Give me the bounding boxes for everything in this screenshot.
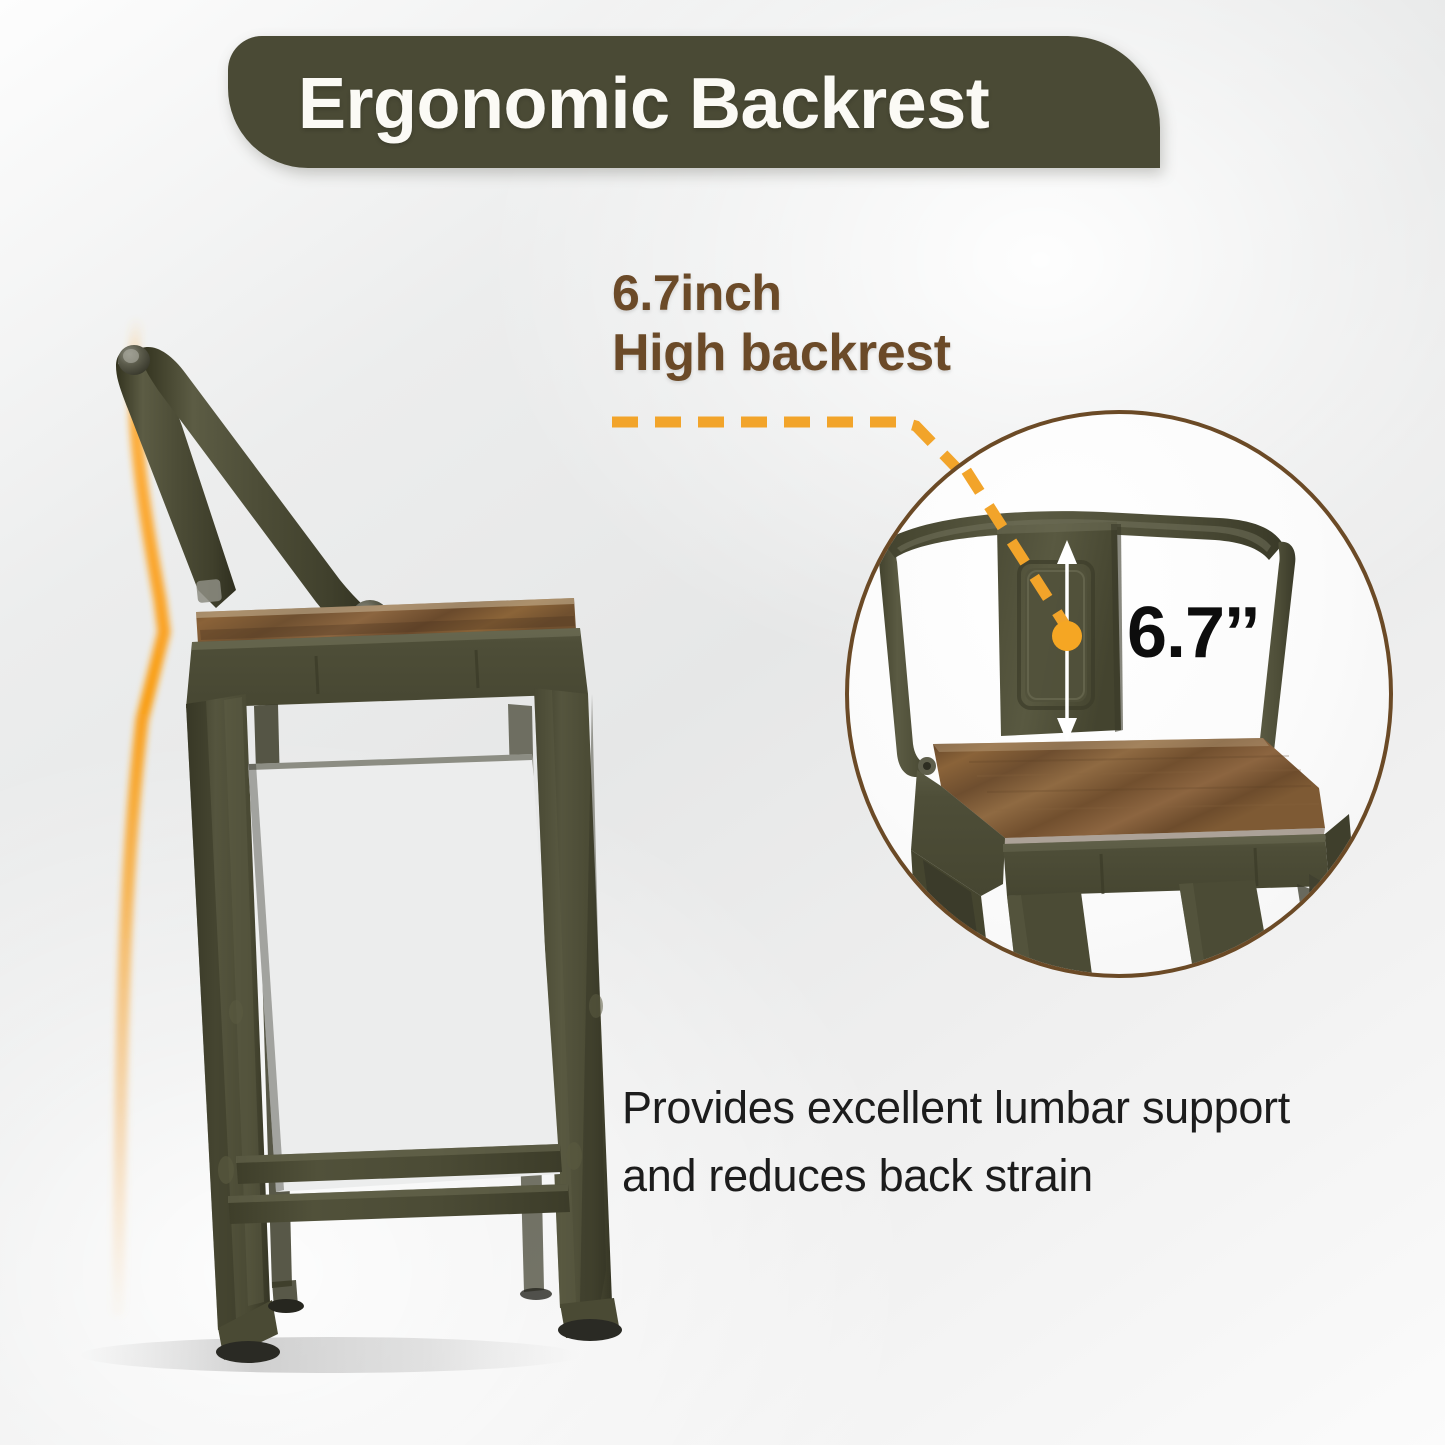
feature-description: Provides excellent lumbar support and re…: [622, 1074, 1440, 1211]
page-title: Ergonomic Backrest: [298, 52, 1158, 156]
callout-headline: 6.7inch High backrest: [612, 264, 1172, 383]
orange-dot-marker-icon: [1052, 621, 1082, 651]
callout-line-1: 6.7inch: [612, 264, 1172, 323]
detail-inset-circle: 6.7’’: [845, 410, 1393, 978]
description-line-1: Provides excellent lumbar support: [622, 1074, 1440, 1142]
description-line-2: and reduces back strain: [622, 1142, 1440, 1210]
product-image-stool-closeup: [849, 414, 1393, 978]
infographic-canvas: Ergonomic Backrest 6.7inch High backrest: [0, 0, 1445, 1445]
callout-line-2: High backrest: [612, 323, 1172, 384]
product-image-stool-side-view: [40, 290, 660, 1400]
dimension-label: 6.7’’: [1127, 592, 1259, 674]
